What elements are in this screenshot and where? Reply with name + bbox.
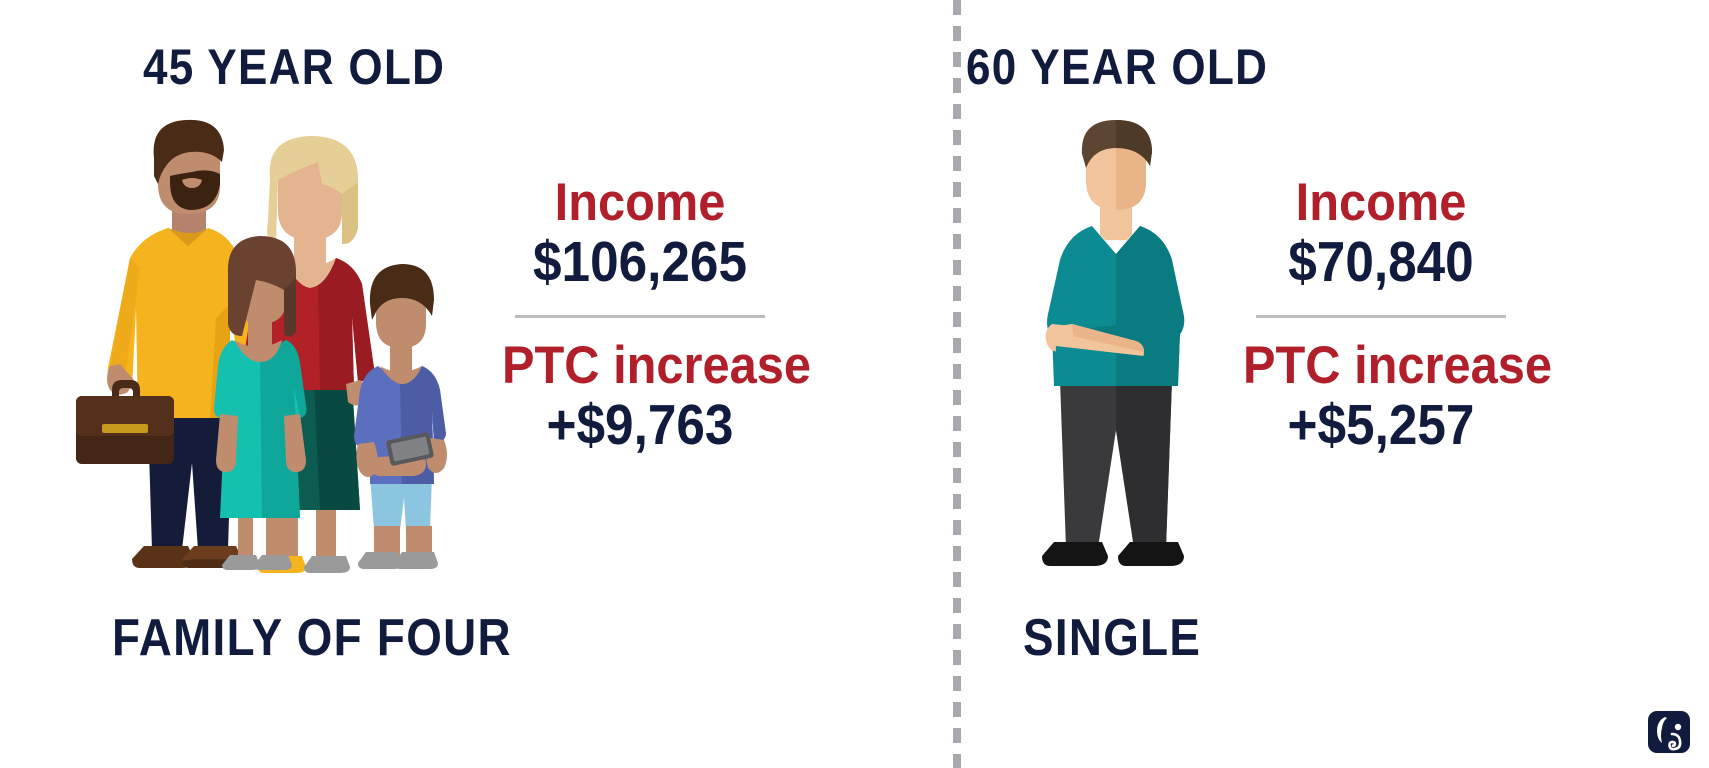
stat-label-income: Income [502, 175, 778, 231]
stats-family: Income $106,265 PTC increase +$9,763 [490, 175, 790, 457]
vertical-dashed-divider [953, 0, 961, 768]
stat-value-income: $70,840 [1246, 231, 1516, 294]
stat-divider-rule [515, 315, 765, 318]
panel-family: 45 YEAR OLD [0, 0, 953, 768]
stat-label-ptc-increase: PTC increase [502, 338, 778, 394]
stat-value-ptc-increase: +$5,257 [1246, 394, 1516, 457]
infographic-canvas: 45 YEAR OLD [0, 0, 1709, 768]
panel-title-family: 45 YEAR OLD [143, 38, 445, 96]
family-of-four-illustration [70, 118, 470, 578]
panel-title-single: 60 YEAR OLD [966, 38, 1268, 96]
single-person-illustration [1016, 118, 1216, 578]
panel-caption-single: SINGLE [1023, 608, 1201, 668]
panel-caption-family: FAMILY OF FOUR [112, 608, 512, 668]
elephant-logo [1647, 710, 1691, 754]
stat-value-income: $106,265 [505, 231, 775, 294]
stat-value-ptc-increase: +$9,763 [505, 394, 775, 457]
stat-label-ptc-increase: PTC increase [1243, 338, 1519, 394]
panel-single: 60 YEAR OLD [961, 0, 1709, 768]
stat-divider-rule [1256, 315, 1506, 318]
stats-single: Income $70,840 PTC increase +$5,257 [1231, 175, 1531, 457]
stat-label-income: Income [1243, 175, 1519, 231]
